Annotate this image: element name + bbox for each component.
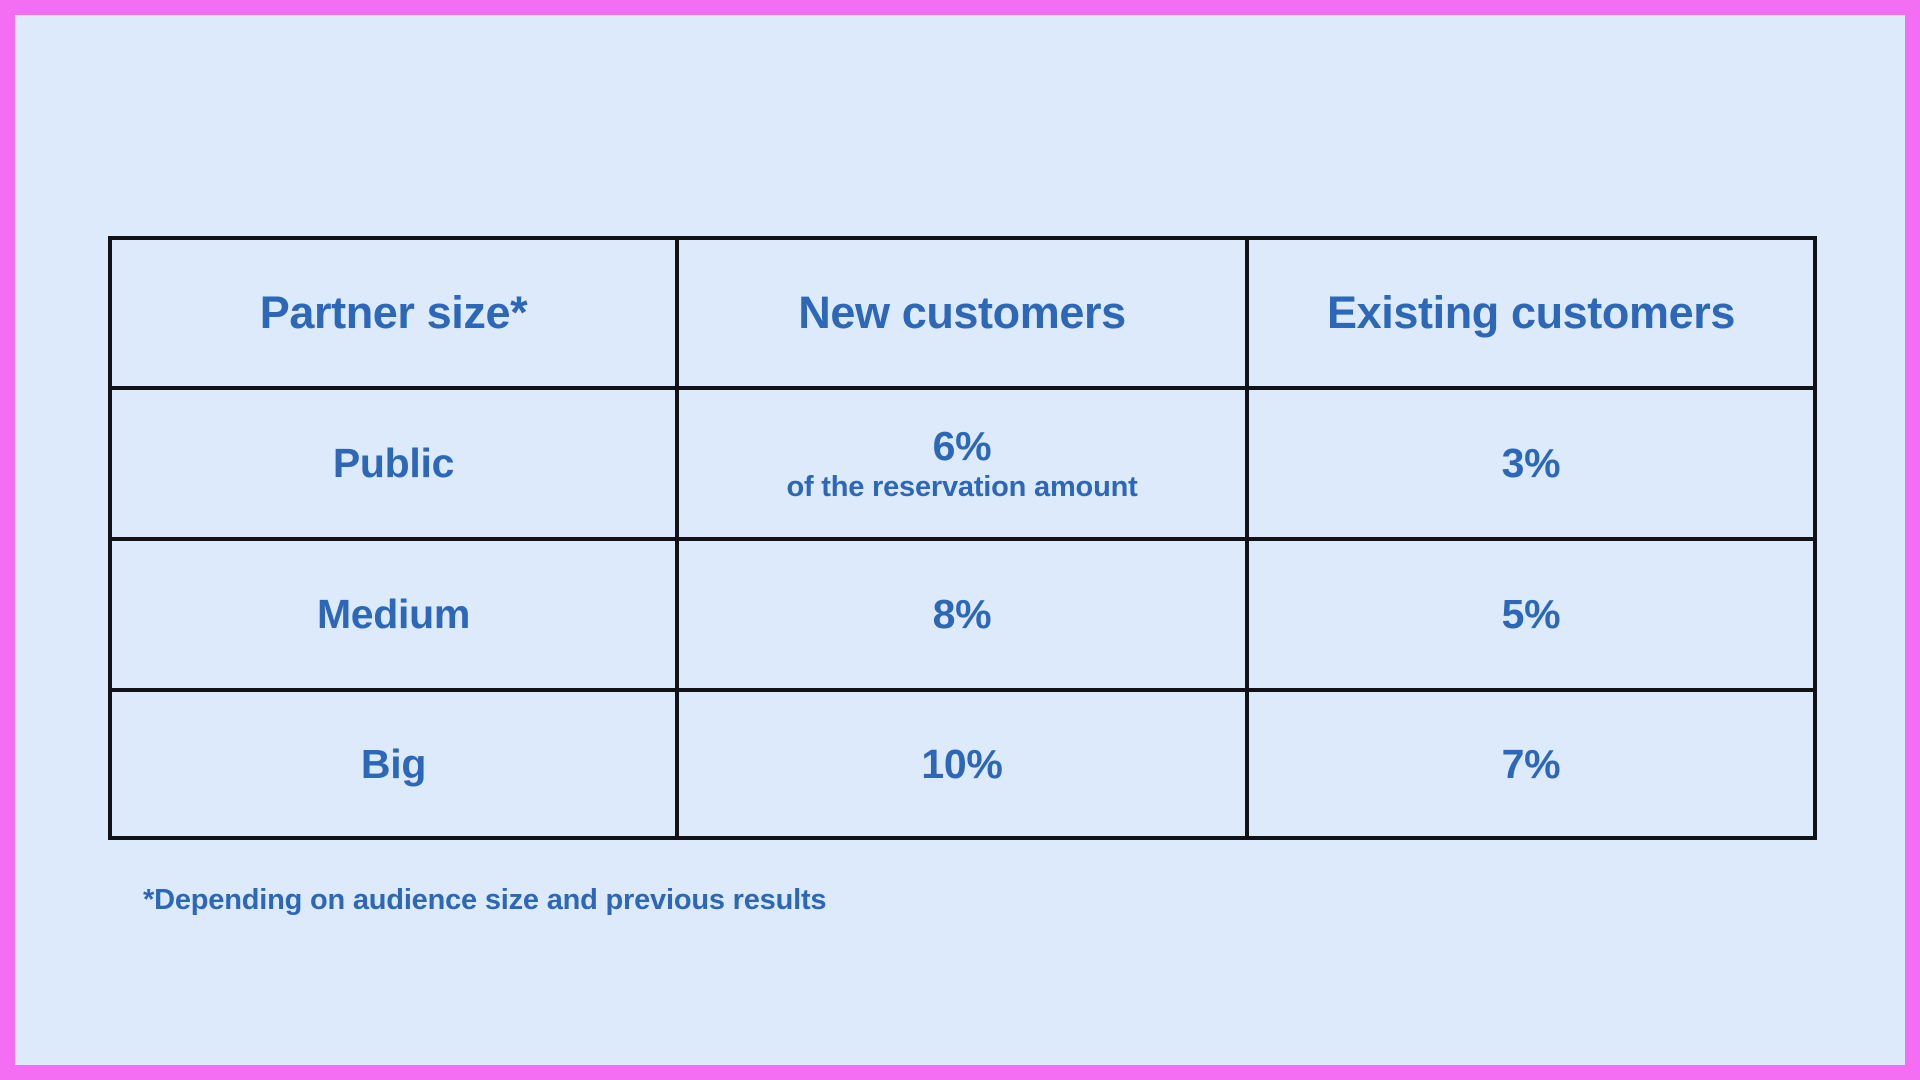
table-row: Medium 8% 5% [110, 539, 1815, 690]
cell-value-note: of the reservation amount [786, 472, 1137, 502]
cell-partner-size: Big [110, 690, 677, 838]
table-header-row: Partner size* New customers Existing cus… [110, 238, 1815, 388]
cell-existing-customers: 7% [1247, 690, 1815, 838]
cell-partner-size: Public [110, 388, 677, 539]
cell-existing-customers: 3% [1247, 388, 1815, 539]
page-frame: Partner size* New customers Existing cus… [15, 15, 1905, 1065]
table-footnote: *Depending on audience size and previous… [143, 884, 826, 917]
column-header-existing-customers: Existing customers [1247, 238, 1815, 388]
cell-stack: 6% of the reservation amount [679, 425, 1245, 502]
cell-new-customers: 10% [677, 690, 1247, 838]
column-header-partner-size: Partner size* [110, 238, 677, 388]
cell-existing-customers: 5% [1247, 539, 1815, 690]
cell-new-customers: 6% of the reservation amount [677, 388, 1247, 539]
commission-rate-table: Partner size* New customers Existing cus… [108, 236, 1817, 840]
column-header-new-customers: New customers [677, 238, 1247, 388]
cell-value-primary: 6% [933, 425, 992, 468]
table-row: Big 10% 7% [110, 690, 1815, 838]
cell-partner-size: Medium [110, 539, 677, 690]
cell-new-customers: 8% [677, 539, 1247, 690]
table-row: Public 6% of the reservation amount 3% [110, 388, 1815, 539]
